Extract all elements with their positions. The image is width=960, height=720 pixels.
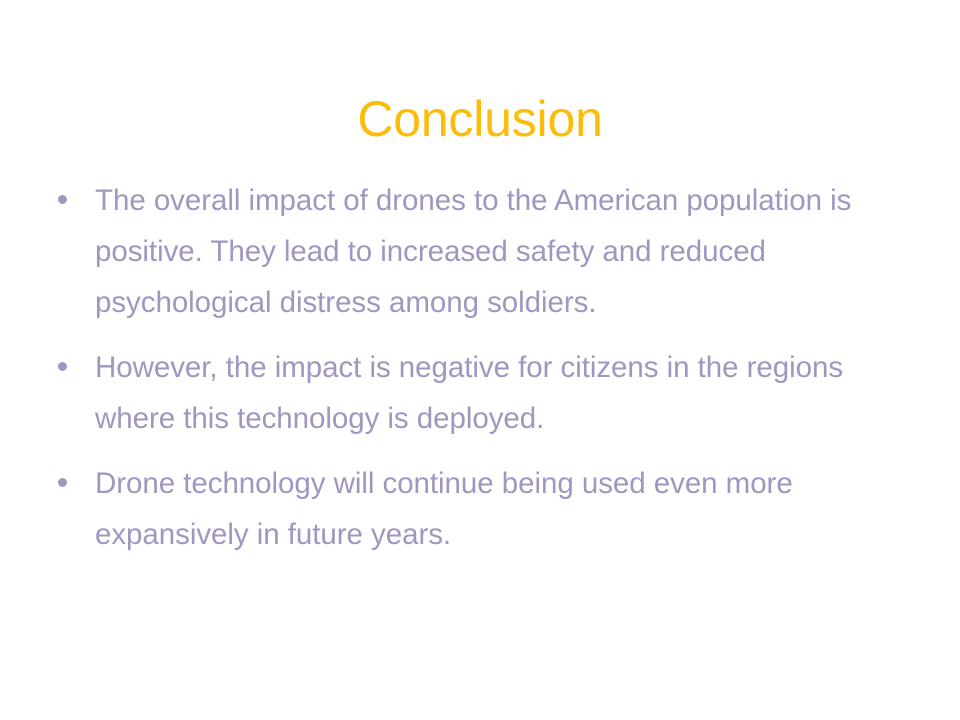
bullet-item-text: Drone technology will continue being use…: [95, 458, 920, 560]
bullet-point-icon: [58, 362, 67, 371]
bullet-list-item: The overall impact of drones to the Amer…: [52, 175, 920, 328]
presentation-slide: Conclusion The overall impact of drones …: [0, 0, 960, 720]
bullet-item-text: However, the impact is negative for citi…: [95, 342, 920, 444]
bullet-list-item: However, the impact is negative for citi…: [52, 342, 920, 444]
slide-body-content: The overall impact of drones to the Amer…: [52, 175, 920, 560]
bullet-item-text: The overall impact of drones to the Amer…: [95, 175, 920, 328]
bullet-list-item: Drone technology will continue being use…: [52, 458, 920, 560]
slide-title: Conclusion: [0, 89, 960, 149]
bullet-point-icon: [58, 195, 67, 204]
bullet-point-icon: [58, 478, 67, 487]
